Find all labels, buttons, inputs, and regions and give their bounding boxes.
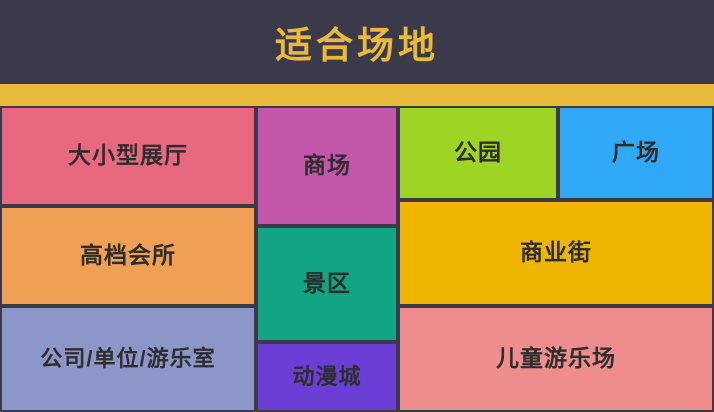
title-bar: 适合场地 bbox=[0, 0, 714, 84]
accent-divider bbox=[0, 84, 714, 106]
venue-block[interactable]: 大小型展厅 bbox=[0, 106, 256, 206]
venue-block[interactable]: 商业街 bbox=[398, 200, 714, 306]
venue-block[interactable]: 儿童游乐场 bbox=[398, 306, 714, 412]
venue-block[interactable]: 广场 bbox=[558, 106, 714, 200]
venue-block[interactable]: 商场 bbox=[256, 106, 398, 226]
venue-block[interactable]: 高档会所 bbox=[0, 206, 256, 306]
page-title: 适合场地 bbox=[275, 15, 439, 69]
venue-block[interactable]: 公司/单位/游乐室 bbox=[0, 306, 256, 412]
venue-block[interactable]: 动漫城 bbox=[256, 342, 398, 412]
venue-block[interactable]: 公园 bbox=[398, 106, 558, 200]
venue-block-grid: 大小型展厅商场公园广场高档会所景区商业街公司/单位/游乐室动漫城儿童游乐场 bbox=[0, 106, 714, 412]
diagram-page: 适合场地 大小型展厅商场公园广场高档会所景区商业街公司/单位/游乐室动漫城儿童游… bbox=[0, 0, 714, 412]
venue-block[interactable]: 景区 bbox=[256, 226, 398, 342]
